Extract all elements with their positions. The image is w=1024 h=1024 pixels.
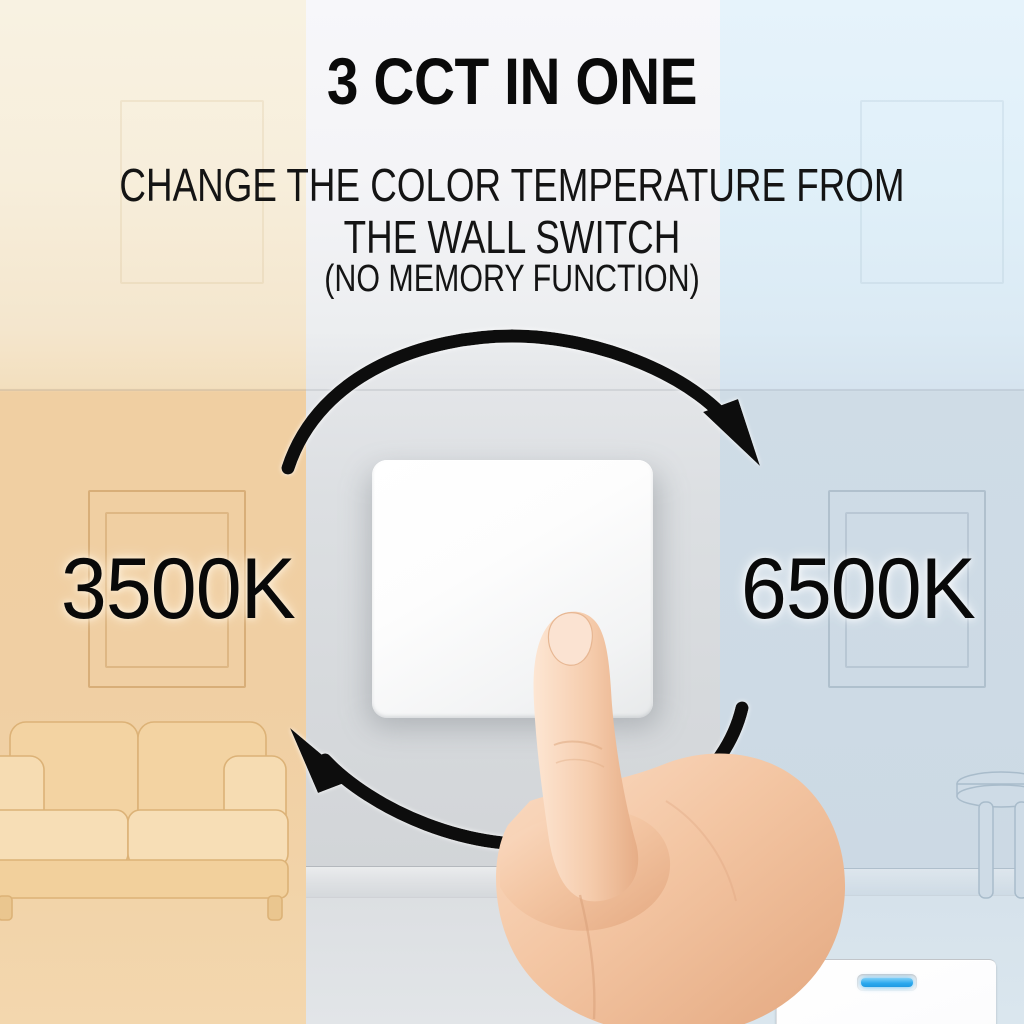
page-title: 3 CCT IN ONE <box>72 48 953 115</box>
blue-led-indicator-icon <box>861 978 913 987</box>
infographic-canvas: 3 CCT IN ONE CHANGE THE COLOR TEMPERATUR… <box>0 0 1024 1024</box>
color-temperature-label-warm: 3500K <box>61 540 295 639</box>
subtitle-line-2: THE WALL SWITCH <box>102 210 921 264</box>
color-temperature-label-cool: 6500K <box>741 540 975 639</box>
subtitle-line-1: CHANGE THE COLOR TEMPERATURE FROM <box>102 158 921 212</box>
subtitle-line-3: (NO MEMORY FUNCTION) <box>102 258 921 301</box>
hand-pressing-switch <box>430 595 850 1024</box>
hand-shape <box>496 612 845 1024</box>
wall-seam-line <box>0 389 1024 391</box>
